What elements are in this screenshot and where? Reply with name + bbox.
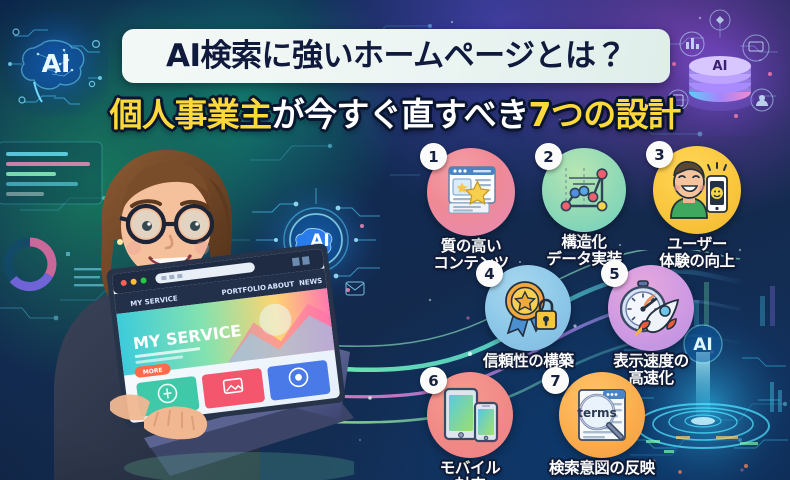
thumbnail-canvas: AI [0, 0, 790, 480]
vignette-overlay [0, 0, 790, 480]
